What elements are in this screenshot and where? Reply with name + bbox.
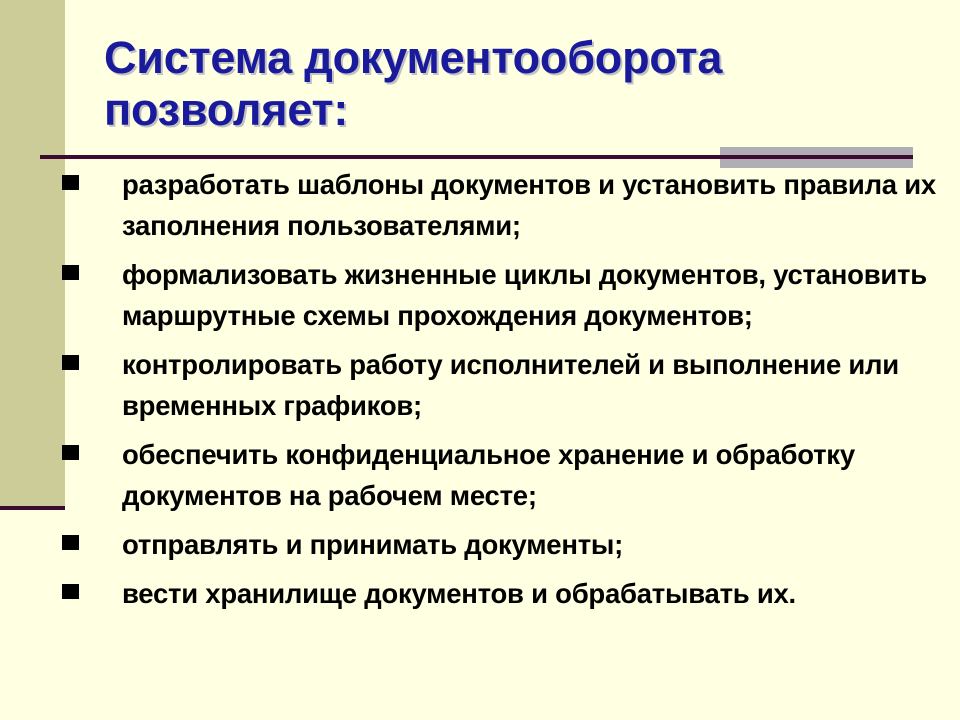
square-bullet-icon — [62, 175, 79, 190]
square-bullet-icon — [62, 265, 79, 280]
list-item-label: контролировать работу исполнителей и вып… — [79, 344, 942, 426]
list-item: контролировать работу исполнителей и вып… — [62, 344, 942, 426]
list-item-label: обеспечить конфиденциальное хранение и о… — [79, 434, 942, 516]
list-item: вести хранилище документов и обрабатыват… — [62, 573, 942, 614]
list-item: отправлять и принимать документы; — [62, 524, 942, 565]
square-bullet-icon — [62, 535, 79, 550]
left-band-bottom-rule — [0, 506, 65, 510]
list-item-label: вести хранилище документов и обрабатыват… — [79, 573, 942, 614]
title-divider-rule — [40, 155, 913, 159]
list-item: обеспечить конфиденциальное хранение и о… — [62, 434, 942, 516]
list-item: формализовать жизненные циклы документов… — [62, 254, 942, 336]
square-bullet-icon — [62, 355, 79, 370]
list-item-label: формализовать жизненные циклы документов… — [79, 254, 942, 336]
bullet-list: разработать шаблоны документов и установ… — [62, 164, 942, 622]
square-bullet-icon — [62, 584, 79, 599]
slide-canvas: Система документооборота позволяет: разр… — [0, 0, 960, 720]
left-decorative-band — [0, 0, 65, 506]
list-item-label: отправлять и принимать документы; — [79, 524, 942, 565]
square-bullet-icon — [62, 445, 79, 460]
list-item: разработать шаблоны документов и установ… — [62, 164, 942, 246]
slide-title: Система документооборота позволяет: — [104, 32, 944, 136]
list-item-label: разработать шаблоны документов и установ… — [79, 164, 942, 246]
